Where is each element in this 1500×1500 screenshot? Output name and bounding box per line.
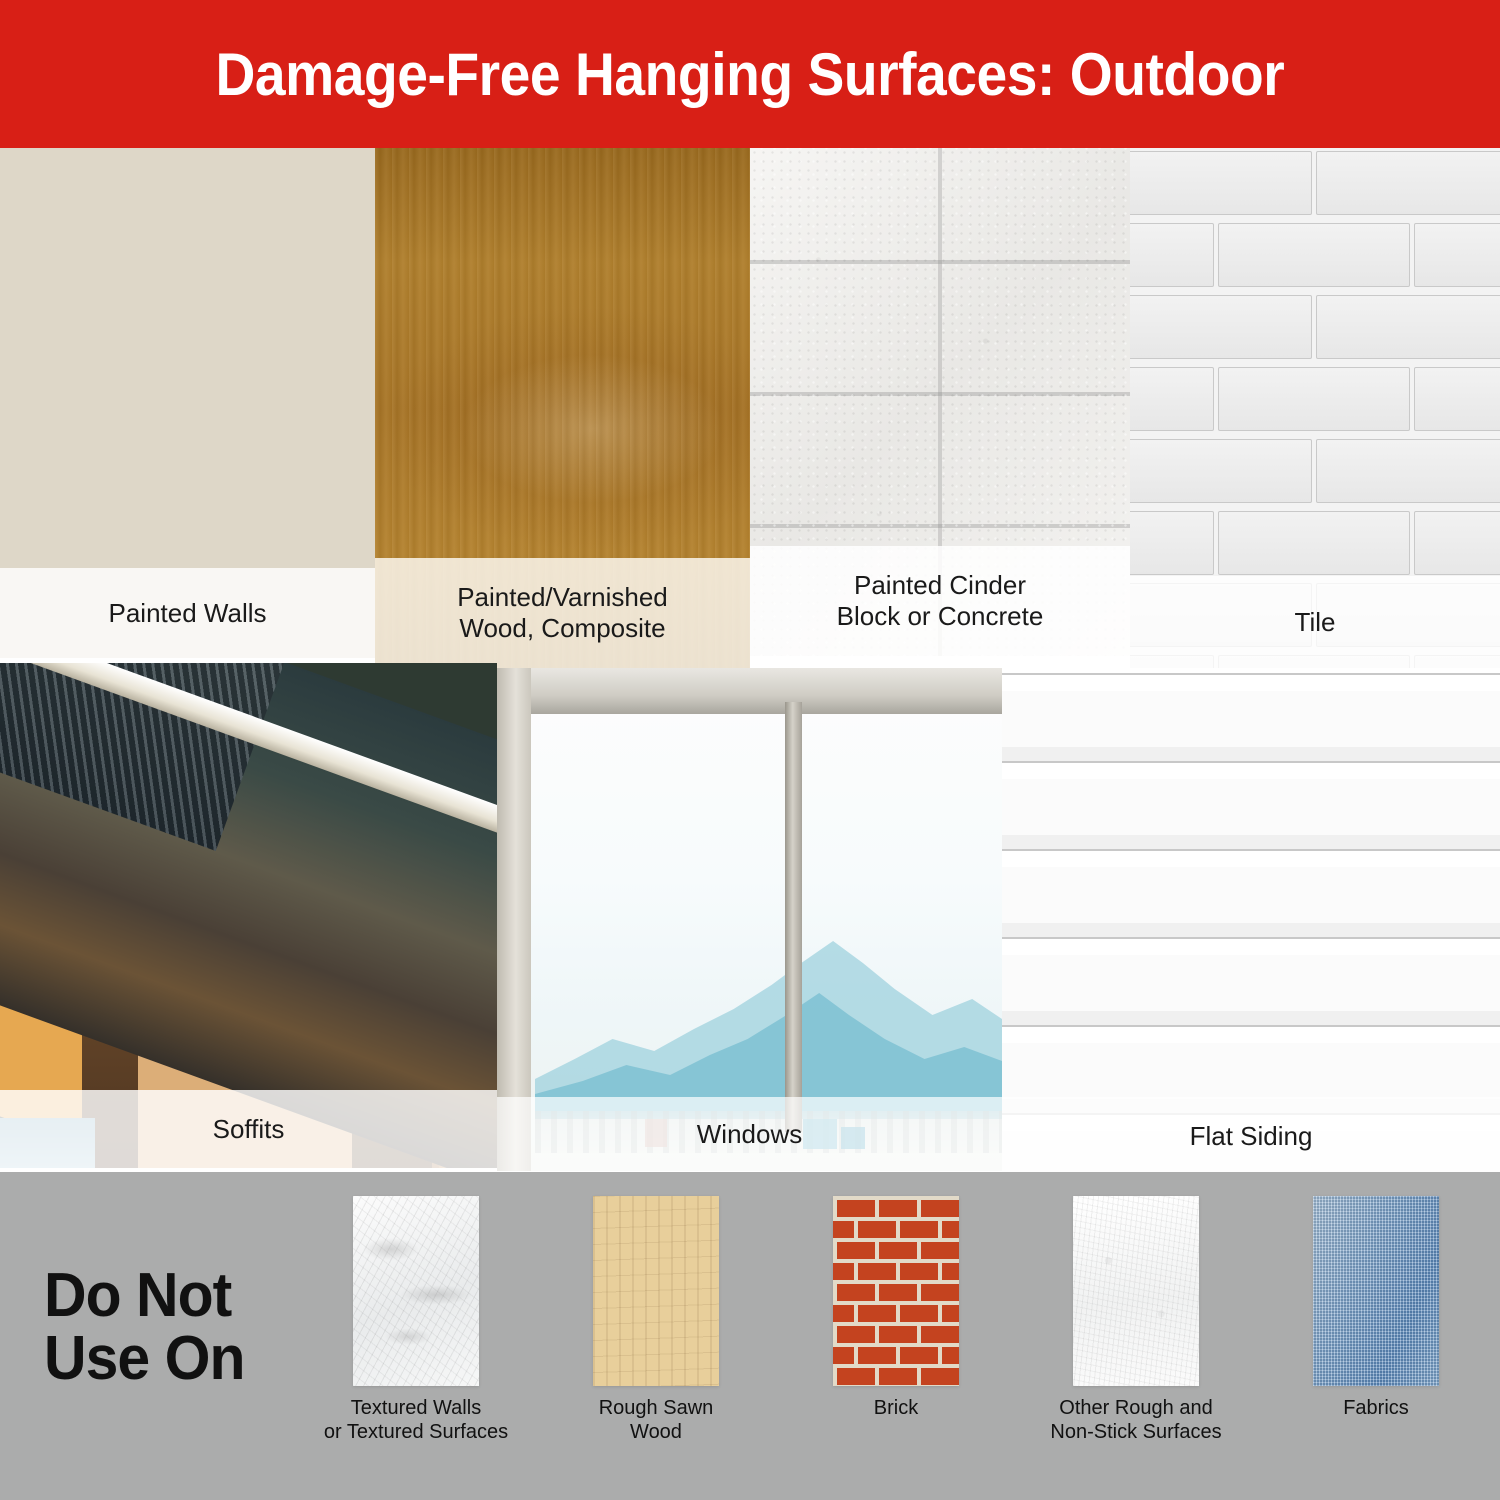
do-not-use-item-textured-walls[interactable]: Textured Walls or Textured Surfaces: [296, 1172, 536, 1500]
surface-label-tile: Tile: [1130, 576, 1500, 668]
label-line-2: Non-Stick Surfaces: [1050, 1421, 1221, 1443]
label-line-1: Painted Cinder: [854, 570, 1026, 600]
subway-tile-unit: [1130, 151, 1312, 215]
subway-tile-row: [1130, 508, 1500, 580]
approved-surfaces-row-2: Soffits Windows Flat Siding: [0, 663, 1500, 1175]
do-not-use-label-textured-walls: Textured Walls or Textured Surfaces: [296, 1396, 536, 1445]
subway-tile-unit: [1316, 151, 1500, 215]
surface-tile-windows[interactable]: Windows: [497, 668, 1002, 1171]
surface-tile-painted-walls[interactable]: Painted Walls: [0, 148, 375, 658]
page-title: Damage-Free Hanging Surfaces: Outdoor: [216, 40, 1285, 109]
subway-tile-row: [1130, 436, 1500, 508]
label-line-1: Textured Walls: [351, 1397, 481, 1419]
red-brick-wall-swatch: [833, 1196, 959, 1386]
textured-plaster-wall-swatch: [353, 1196, 479, 1386]
surface-label-painted-cinder-block: Painted Cinder Block or Concrete: [750, 546, 1130, 656]
subway-tile-row: [1130, 364, 1500, 436]
surface-tile-painted-varnished-wood[interactable]: Painted/Varnished Wood, Composite: [375, 148, 750, 668]
do-not-use-section: Do Not Use On Textured Walls or Textured…: [0, 1172, 1500, 1500]
label-line-2: Block or Concrete: [837, 601, 1044, 631]
label-line-1: Painted/Varnished: [457, 582, 668, 612]
do-not-use-item-brick[interactable]: Brick: [776, 1172, 1016, 1500]
surface-tile-painted-cinder-block[interactable]: Painted Cinder Block or Concrete: [750, 148, 1130, 656]
subway-tile-unit: [1218, 223, 1410, 287]
subway-tile-unit: [1316, 295, 1500, 359]
surface-label-painted-walls: Painted Walls: [0, 568, 375, 658]
surface-tile-flat-siding[interactable]: Flat Siding: [1002, 673, 1500, 1175]
surface-label-soffits: Soffits: [0, 1090, 497, 1168]
label-line-1: Other Rough and: [1059, 1397, 1212, 1419]
do-not-use-item-fabrics[interactable]: Fabrics: [1256, 1172, 1496, 1500]
label-line-1: Rough Sawn: [599, 1397, 714, 1419]
label-line-2: or Textured Surfaces: [324, 1421, 508, 1443]
header-banner: Damage-Free Hanging Surfaces: Outdoor: [0, 0, 1500, 148]
do-not-use-label-rough-sawn-wood: Rough Sawn Wood: [536, 1396, 776, 1445]
label-line-2: Wood, Composite: [459, 613, 665, 643]
subway-tile-unit: [1130, 367, 1214, 431]
label-line-1: Brick: [874, 1397, 918, 1419]
subway-tile-unit: [1130, 439, 1312, 503]
heading-line-1: Do Not: [44, 1264, 282, 1327]
label-line-1: Fabrics: [1343, 1397, 1409, 1419]
surface-tile-tile[interactable]: Tile: [1130, 148, 1500, 668]
subway-tile-unit: [1316, 439, 1500, 503]
do-not-use-label-other-rough: Other Rough and Non-Stick Surfaces: [1016, 1396, 1256, 1445]
subway-tile-unit: [1218, 511, 1410, 575]
subway-tile-unit: [1218, 367, 1410, 431]
heading-line-2: Use On: [44, 1327, 282, 1390]
window-head-frame: [497, 668, 1002, 714]
subway-tile-unit: [1414, 511, 1500, 575]
do-not-use-item-other-rough[interactable]: Other Rough and Non-Stick Surfaces: [1016, 1172, 1256, 1500]
rough-non-stick-surface-swatch: [1073, 1196, 1199, 1386]
surface-label-windows: Windows: [497, 1097, 1002, 1171]
subway-tile-unit: [1130, 511, 1214, 575]
window-mullion: [785, 702, 802, 1132]
subway-tile-row: [1130, 220, 1500, 292]
blue-woven-fabric-swatch: [1313, 1196, 1439, 1386]
mountain-silhouette: [535, 889, 1002, 1119]
rough-sawn-wood-swatch: [593, 1196, 719, 1386]
do-not-use-label-brick: Brick: [776, 1396, 1016, 1420]
do-not-use-item-rough-sawn-wood[interactable]: Rough Sawn Wood: [536, 1172, 776, 1500]
surface-tile-soffits[interactable]: Soffits: [0, 663, 497, 1168]
subway-tile-unit: [1130, 223, 1214, 287]
infographic-page: Damage-Free Hanging Surfaces: Outdoor Pa…: [0, 0, 1500, 1500]
surface-label-painted-varnished-wood: Painted/Varnished Wood, Composite: [375, 558, 750, 668]
do-not-use-label-fabrics: Fabrics: [1256, 1396, 1496, 1420]
subway-tile-unit: [1414, 367, 1500, 431]
window-left-jamb: [497, 668, 531, 1171]
subway-tile-unit: [1130, 295, 1312, 359]
surface-label-flat-siding: Flat Siding: [1002, 1097, 1500, 1175]
do-not-use-list: Textured Walls or Textured Surfaces Roug…: [296, 1172, 1500, 1500]
do-not-use-heading: Do Not Use On: [44, 1264, 282, 1390]
subway-tile-row: [1130, 148, 1500, 220]
subway-tile-row: [1130, 292, 1500, 364]
approved-surfaces-row-1: Painted Walls Painted/Varnished Wood, Co…: [0, 148, 1500, 668]
subway-tile-unit: [1414, 223, 1500, 287]
label-line-2: Wood: [630, 1421, 682, 1443]
